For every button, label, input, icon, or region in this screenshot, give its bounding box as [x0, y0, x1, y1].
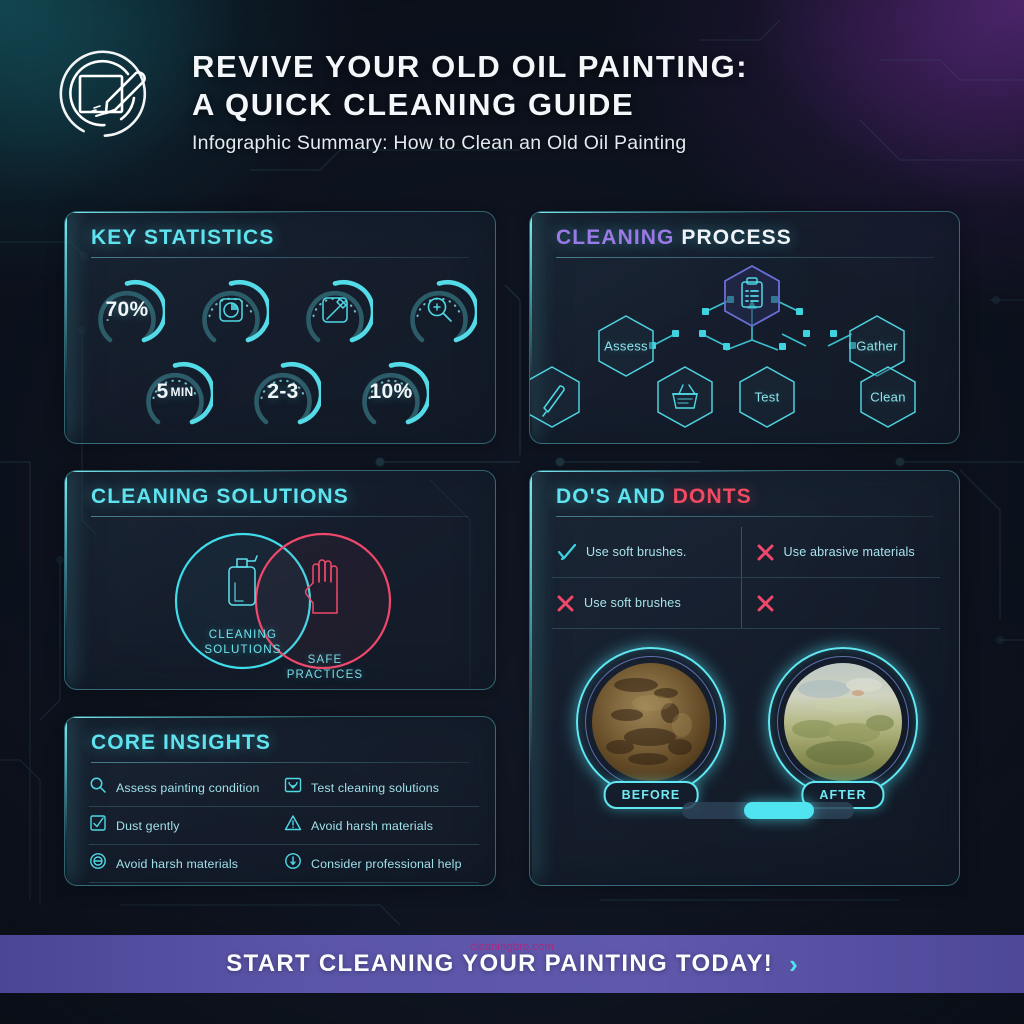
- panel-divider: [556, 257, 934, 258]
- gauge-row-2: 5 MIN 2-3 10%: [137, 354, 429, 430]
- info-circle-icon: [284, 852, 302, 875]
- panel-title-core-insights: Core Insights: [91, 731, 271, 755]
- dont-item[interactable]: Use abrasive materials: [741, 527, 941, 577]
- panel-title-key-statistics: Key Statistics: [91, 226, 274, 250]
- insight-item[interactable]: Dust gently: [89, 807, 284, 844]
- dont-item[interactable]: Use soft brushes: [552, 578, 741, 628]
- before-after-comparison: BEFORE: [558, 647, 936, 843]
- gauge-value: 70%: [89, 272, 165, 348]
- panel-core-insights: Core Insights Assess painting condition …: [64, 716, 496, 886]
- gauge-unit: MIN: [171, 385, 194, 399]
- panel-divider: [556, 516, 934, 517]
- insight-text: Consider professional help: [311, 857, 462, 871]
- gauge-arc: [297, 272, 373, 348]
- checkbox-icon: [89, 814, 107, 837]
- panel-cleaning-solutions: Cleaning Solutions CLEANING SOLUTIONS SA…: [64, 470, 496, 690]
- gauge-70-percent: 70%: [89, 272, 165, 348]
- gauge-5-min: 5 MIN: [137, 354, 213, 430]
- insight-text: Test cleaning solutions: [311, 781, 439, 795]
- panel-divider: [91, 516, 469, 517]
- chevron-right-icon: ›: [789, 951, 798, 977]
- title-part-dos: Do's and: [556, 485, 666, 508]
- slider-thumb[interactable]: [744, 802, 814, 819]
- no-entry-circle-icon: [89, 852, 107, 875]
- do-item[interactable]: Use soft brushes.: [552, 527, 741, 577]
- process-label-clean: Clean: [870, 390, 905, 405]
- gauge-magnifier-plus: [401, 272, 477, 348]
- before-painting-image: [592, 663, 710, 781]
- after-image-card[interactable]: AFTER: [768, 647, 918, 797]
- dos-donts-row: Use soft brushes: [552, 578, 940, 629]
- dont-item-text: Use soft brushes: [584, 596, 681, 610]
- process-label-assess: Assess: [604, 339, 648, 354]
- x-icon: [556, 594, 575, 613]
- panel-divider: [91, 762, 469, 763]
- insight-row: Dust gently Avoid harsh materials: [89, 807, 479, 845]
- test-tray-icon: [284, 776, 302, 799]
- process-label-gather: Gather: [856, 339, 898, 354]
- before-after-slider[interactable]: [682, 802, 854, 819]
- gauge-arc: [401, 272, 477, 348]
- page-subtitle: Infographic Summary: How to Clean an Old…: [192, 132, 892, 155]
- title-part-donts: Donts: [673, 485, 752, 508]
- gauge-value: 5 MIN: [137, 354, 213, 430]
- watermark: cleaningbro.com: [0, 941, 1024, 953]
- check-icon: [556, 542, 577, 563]
- insight-item[interactable]: Avoid harsh materials: [284, 807, 479, 844]
- process-node-top: [725, 266, 779, 326]
- insight-row: Assess painting condition Test cleaning …: [89, 769, 479, 807]
- insight-item[interactable]: Avoid harsh materials: [89, 845, 284, 882]
- do-item-text: Use soft brushes.: [586, 545, 687, 559]
- header: Revive Your Old Oil Painting: A Quick Cl…: [0, 0, 1024, 185]
- insight-text: Avoid harsh materials: [116, 857, 238, 871]
- spray-target-icon: [220, 299, 242, 321]
- insight-item[interactable]: Test cleaning solutions: [284, 769, 479, 806]
- gauge-arc: [193, 272, 269, 348]
- before-image-card[interactable]: BEFORE: [576, 647, 726, 797]
- painting-brush-logo-icon: [52, 40, 158, 146]
- panel-key-statistics: Key Statistics 70%: [64, 211, 496, 444]
- page-title-line2: A Quick Cleaning Guide: [192, 86, 892, 124]
- insight-item[interactable]: Assess painting condition: [89, 769, 284, 806]
- gauge-value: 10%: [353, 354, 429, 430]
- panel-cleaning-process: Cleaning Process: [529, 211, 960, 444]
- insight-text: Avoid harsh materials: [311, 819, 433, 833]
- gauge-row-1: 70%: [89, 272, 477, 348]
- header-text: Revive Your Old Oil Painting: A Quick Cl…: [192, 48, 892, 155]
- panel-dos-and-donts: Do's and Donts Use soft brushes. Use abr…: [529, 470, 960, 886]
- after-painting-image: [784, 663, 902, 781]
- panel-title-cleaning-process: Cleaning Process: [556, 226, 792, 250]
- gauge-2-3: 2-3: [245, 354, 321, 430]
- dos-donts-list: Use soft brushes. Use abrasive materials…: [552, 527, 940, 629]
- x-icon: [756, 594, 775, 613]
- dos-donts-row: Use soft brushes. Use abrasive materials: [552, 527, 940, 578]
- gauge-brush-square: [297, 272, 373, 348]
- page-title-line1: Revive Your Old Oil Painting:: [192, 48, 892, 86]
- venn-label-left: CLEANING SOLUTIONS: [204, 628, 281, 658]
- insight-item[interactable]: Consider professional help: [284, 845, 479, 882]
- insight-text: Assess painting condition: [116, 781, 260, 795]
- title-part-cleaning: Cleaning: [556, 226, 674, 249]
- core-insights-list: Assess painting condition Test cleaning …: [89, 769, 479, 883]
- x-icon: [756, 543, 775, 562]
- cta-text: Start Cleaning Your Painting Today!: [226, 950, 773, 978]
- insight-text: Dust gently: [116, 819, 180, 833]
- magnifier-plus-icon: [429, 299, 452, 322]
- dont-item[interactable]: [741, 578, 941, 628]
- process-node-basket: [658, 367, 712, 427]
- insight-row: Avoid harsh materials Consider professio…: [89, 845, 479, 883]
- title-part-process: Process: [681, 226, 791, 249]
- brush-square-icon: [323, 298, 347, 322]
- gauge-spray-target: [193, 272, 269, 348]
- warning-triangle-icon: [284, 814, 302, 837]
- process-node-brush: [530, 367, 579, 427]
- gauge-value: 2-3: [245, 354, 321, 430]
- venn-label-right: SAFE PRACTICES: [287, 653, 364, 683]
- panel-title-dos-and-donts: Do's and Donts: [556, 485, 752, 509]
- panel-title-cleaning-solutions: Cleaning Solutions: [91, 485, 349, 509]
- process-label-test: Test: [754, 390, 779, 405]
- gauge-10-percent: 10%: [353, 354, 429, 430]
- dont-item-text: Use abrasive materials: [784, 545, 915, 559]
- magnifier-icon: [89, 776, 107, 799]
- panel-divider: [91, 257, 469, 258]
